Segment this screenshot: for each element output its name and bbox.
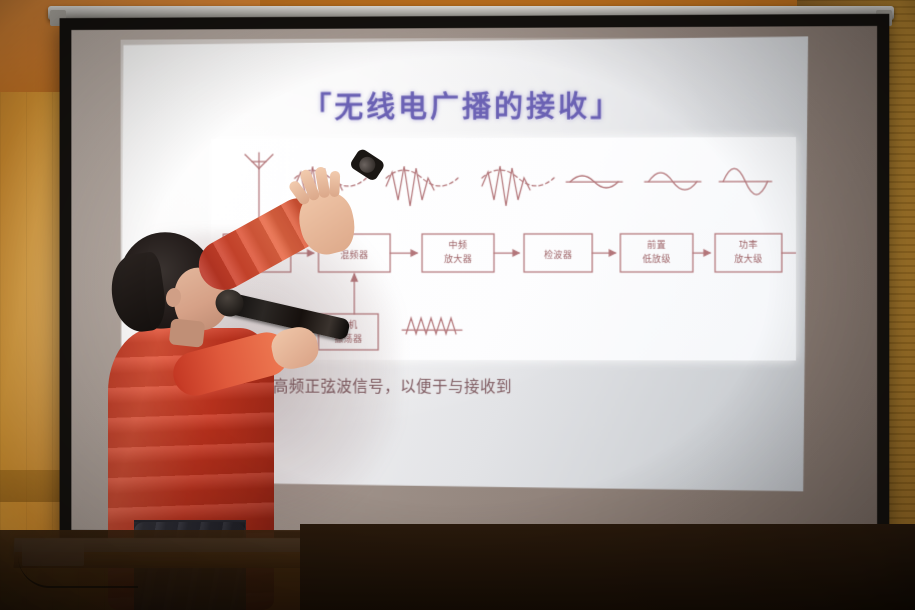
block-pre-af xyxy=(620,234,693,272)
svg-text:低放级: 低放级 xyxy=(642,253,670,265)
lower-dark-area xyxy=(300,524,915,610)
finger-4 xyxy=(329,171,340,197)
wf-af-3 xyxy=(719,168,772,194)
cable xyxy=(18,556,138,588)
watch-face xyxy=(356,154,378,176)
wf-am-2 xyxy=(386,166,458,206)
block-if-amplifier xyxy=(422,234,494,272)
svg-text:放大器: 放大器 xyxy=(444,253,472,265)
svg-text:中频: 中频 xyxy=(449,239,468,251)
wf-am-3 xyxy=(482,166,554,206)
svg-text:功率: 功率 xyxy=(739,239,758,251)
presenter-hair-side xyxy=(107,251,169,335)
presenter-neck xyxy=(169,318,206,347)
wf-af-1 xyxy=(566,176,622,188)
block-power-amp xyxy=(715,234,782,272)
svg-text:前置: 前置 xyxy=(647,239,666,251)
classroom-scene: 「无线电广播的接收」 xyxy=(0,0,915,610)
svg-text:放大级: 放大级 xyxy=(734,253,762,265)
svg-text:检波器: 检波器 xyxy=(544,249,572,261)
wf-osc xyxy=(402,318,462,334)
slide-title: 「无线电广播的接收」 xyxy=(121,83,809,127)
wf-af-2 xyxy=(645,173,701,190)
